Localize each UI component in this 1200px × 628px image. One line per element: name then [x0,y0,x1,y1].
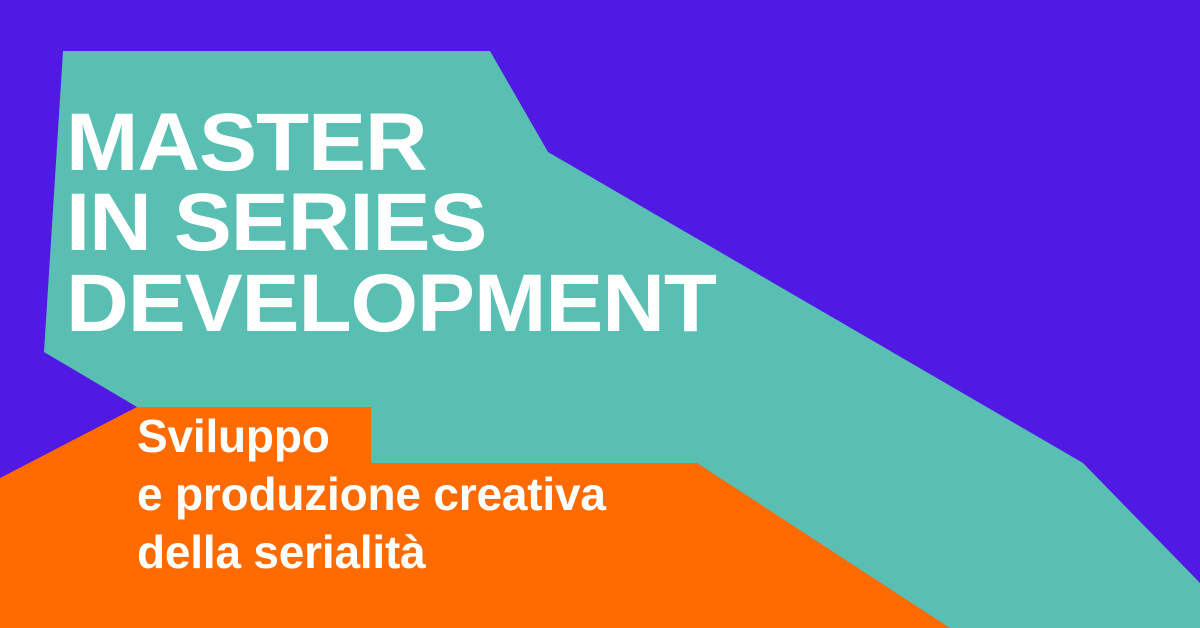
poster-canvas: MASTER IN SERIES DEVELOPMENT Sviluppo e … [0,0,1200,628]
background-shape-layer [0,0,1200,628]
